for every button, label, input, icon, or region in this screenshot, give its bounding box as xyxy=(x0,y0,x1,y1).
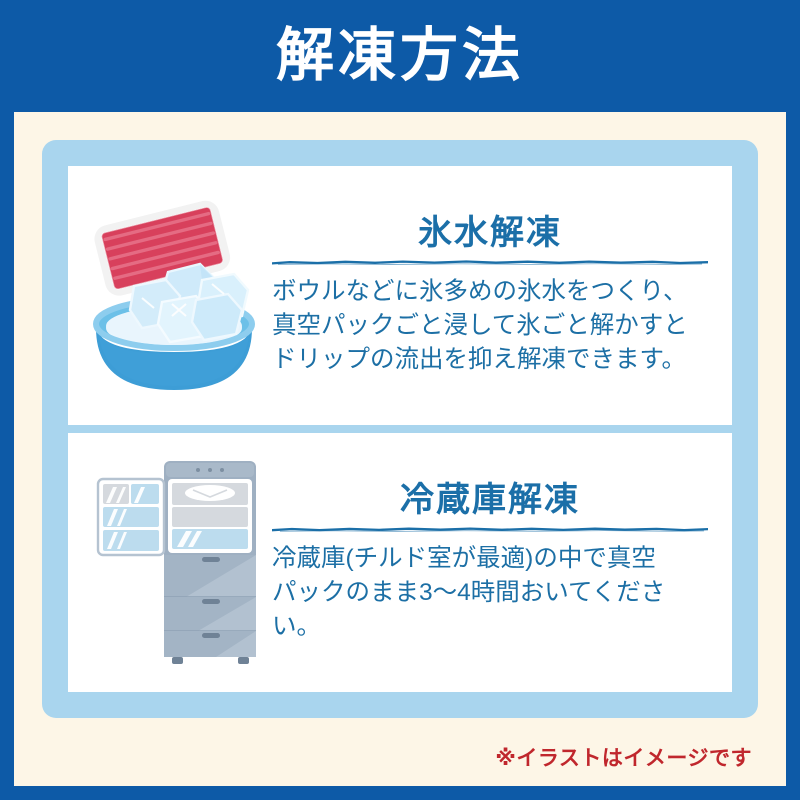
method-description: 冷蔵庫(チルド室が最適)の中で真空 パックのまま3〜4時間おいてくださ い。 xyxy=(272,542,708,643)
ice-water-bowl-icon xyxy=(76,176,272,415)
refrigerator-icon xyxy=(76,443,272,682)
heading-divider xyxy=(272,527,708,532)
method-card-ice-water-body: 氷水解凍 ボウルなどに氷多めの氷水をつくり、 真空パックごと浸して氷ごと解かすと… xyxy=(272,215,714,377)
method-description: ボウルなどに氷多めの氷水をつくり、 真空パックごと浸して氷ごと解かすと ドリップ… xyxy=(272,275,708,376)
page-title: 解凍方法 xyxy=(276,27,524,85)
method-heading: 氷水解凍 xyxy=(272,215,708,252)
content-canvas: 氷水解凍 ボウルなどに氷多めの氷水をつくり、 真空パックごと浸して氷ごと解かすと… xyxy=(14,112,786,786)
method-card-ice-water: 氷水解凍 ボウルなどに氷多めの氷水をつくり、 真空パックごと浸して氷ごと解かすと… xyxy=(68,166,732,425)
heading-divider xyxy=(272,260,708,265)
title-banner: 解凍方法 xyxy=(0,0,800,112)
method-card-refrigerator-body: 冷蔵庫解凍 冷蔵庫(チルド室が最適)の中で真空 パックのまま3〜4時間おいてくだ… xyxy=(272,482,714,644)
method-card-refrigerator: 冷蔵庫解凍 冷蔵庫(チルド室が最適)の中で真空 パックのまま3〜4時間おいてくだ… xyxy=(68,433,732,692)
method-heading: 冷蔵庫解凍 xyxy=(272,482,708,519)
methods-panel: 氷水解凍 ボウルなどに氷多めの氷水をつくり、 真空パックごと浸して氷ごと解かすと… xyxy=(42,140,758,718)
illustration-disclaimer: ※イラストはイメージです xyxy=(495,742,752,772)
poster-root: 解凍方法 xyxy=(0,0,800,800)
